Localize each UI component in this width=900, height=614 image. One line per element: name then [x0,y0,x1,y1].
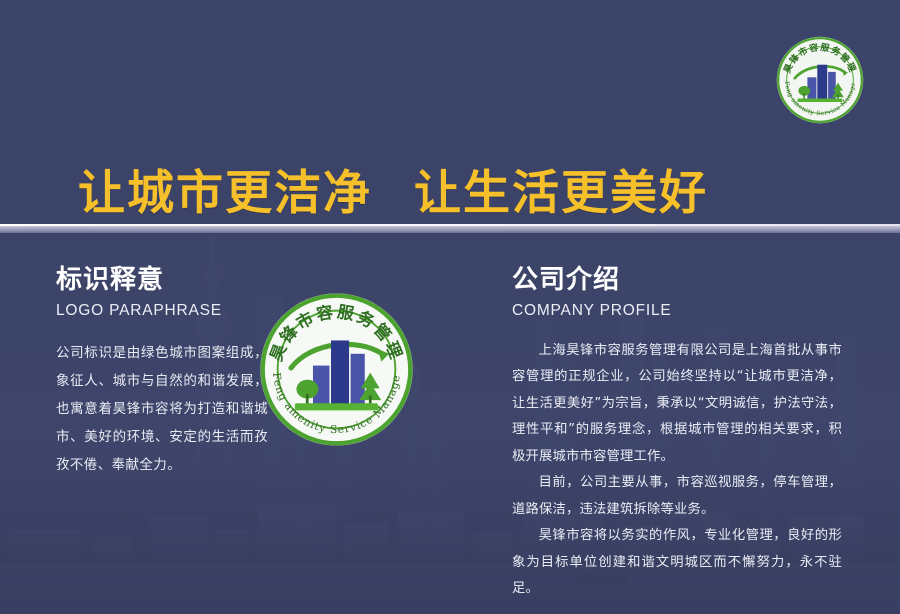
main-headline: 让城市更洁净让生活更美好 [78,154,708,223]
profile-paragraph: 上海昊锋市容服务管理有限公司是上海首批从事市容管理的正规企业，公司始终坚持以“让… [512,338,842,471]
right-title-en: COMPANY PROFILE [512,302,842,320]
headline-part-2: 让生活更美好 [414,166,708,221]
left-title-cn: 标识释意 [56,266,268,295]
headline-band: 让城市更洁净让生活更美好 [0,150,900,226]
profile-paragraph: 目前，公司主要从事，市容巡视服务，停车管理，道路保洁，违法建筑拆除等业务。 [512,470,842,523]
divider-sheen [0,226,900,233]
company-logo-top-right: 昊锋市容服务管理 Hao Feng amenity Service Manage… [775,35,865,125]
right-body-text: 上海昊锋市容服务管理有限公司是上海首批从事市容管理的正规企业，公司始终坚持以“让… [512,338,842,603]
left-body-text: 公司标识是由绿色城市图案组成，象征人、城市与自然的和谐发展，也寓意着昊锋市容将为… [56,339,268,479]
left-title-en: LOGO PARAPHRASE [56,302,268,320]
company-profile-section: 公司介绍 COMPANY PROFILE 上海昊锋市容服务管理有限公司是上海首批… [512,266,842,603]
headline-part-1: 让城市更洁净 [78,166,372,221]
company-logo-center: 昊锋市容服务管理 Hao Feng amenity Service Manage… [258,291,415,448]
profile-paragraph: 昊锋市容将以务实的作风，专业化管理，良好的形象为目标单位创建和谐文明城区而不懈努… [512,523,842,603]
silver-divider [0,224,900,235]
poster-canvas: 昊锋市容服务管理 Hao Feng amenity Service Manage… [0,0,900,614]
right-title-cn: 公司介绍 [512,266,842,295]
logo-paraphrase-section: 标识释意 LOGO PARAPHRASE 公司标识是由绿色城市图案组成，象征人、… [56,266,268,479]
